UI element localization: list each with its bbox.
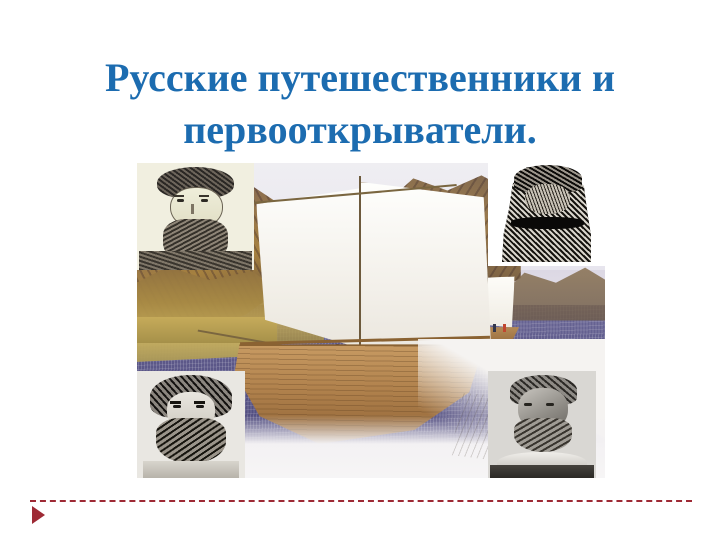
portrait-bottom-left-eye-left	[173, 405, 181, 408]
portrait-top-left-brow-right	[199, 195, 209, 197]
portrait-bottom-left-eye-right	[196, 405, 204, 408]
portrait-top-left-shoulders	[139, 251, 251, 270]
portrait-bottom-left-brow-left	[170, 401, 181, 404]
slide-canvas: Русские путешественники и первооткрывате…	[0, 0, 720, 540]
portrait-top-right	[488, 163, 605, 266]
portrait-top-left-brow-left	[174, 195, 184, 197]
page-title: Русские путешественники и первооткрывате…	[18, 52, 702, 156]
portrait-bottom-left-coat	[143, 461, 238, 478]
portrait-bottom-right-body	[490, 465, 594, 478]
portrait-top-left	[137, 163, 254, 270]
portrait-top-left-nose	[191, 204, 194, 214]
portrait-bottom-left	[137, 371, 245, 478]
portrait-bottom-left-brow-right	[194, 401, 205, 404]
portrait-bottom-left-beard	[156, 418, 225, 463]
portrait-bottom-right	[488, 371, 596, 478]
page-title-line-2: первооткрыватели.	[18, 104, 702, 156]
page-title-line-1: Русские путешественники и	[18, 52, 702, 104]
portrait-top-left-eye-left	[177, 199, 184, 202]
historic-explorers-collage	[137, 163, 605, 478]
portrait-top-right-face	[525, 184, 569, 215]
portrait-bottom-right-eye-left	[524, 403, 532, 406]
footer-dashed-rule	[30, 500, 692, 502]
portrait-bottom-right-eye-right	[546, 403, 554, 406]
portrait-top-right-collar	[511, 217, 584, 229]
triangle-right-icon	[32, 506, 45, 524]
